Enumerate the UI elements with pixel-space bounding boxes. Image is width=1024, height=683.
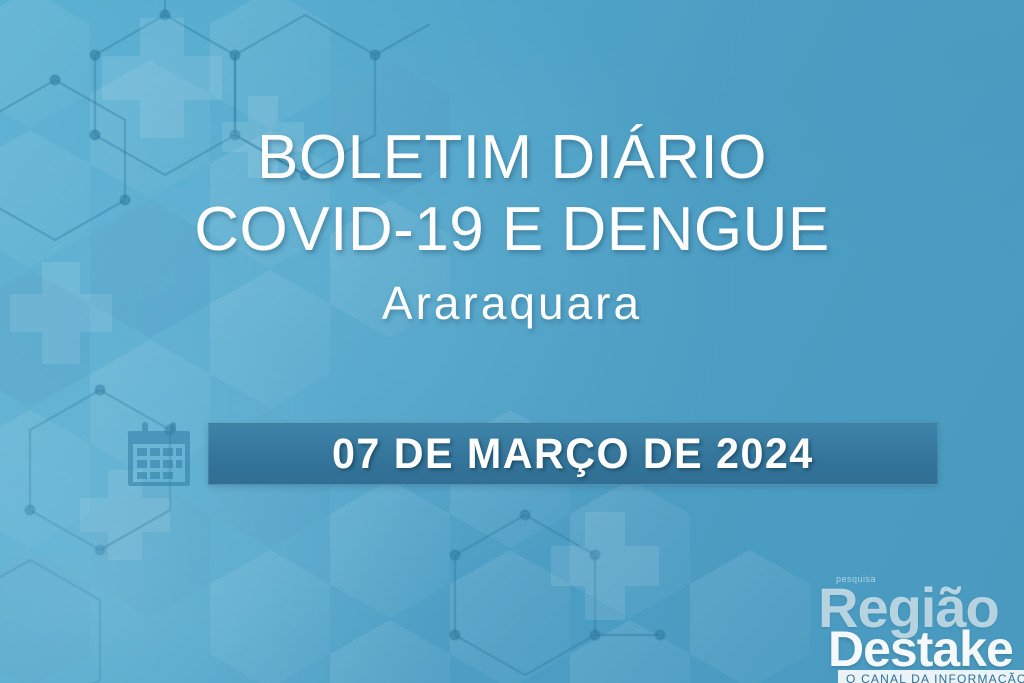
calendar-icon [128,422,190,486]
date-banner: 07 DE MARÇO DE 2024 [208,423,938,485]
page-title: BOLETIM DIÁRIO COVID-19 E DENGUE Araraqu… [0,126,1024,330]
footer-logos: SUS Secretaria Municipal de Saúde [0,563,1024,683]
title-line-2: COVID-19 E DENGUE [0,198,1024,262]
poster-canvas: BOLETIM DIÁRIO COVID-19 E DENGUE Araraqu… [0,0,1024,683]
date-row: 07 DE MARÇO DE 2024 [128,414,938,494]
date-text: 07 DE MARÇO DE 2024 [332,430,814,479]
subtitle-city: Araraquara [0,276,1024,330]
title-line-1: BOLETIM DIÁRIO [0,126,1024,190]
